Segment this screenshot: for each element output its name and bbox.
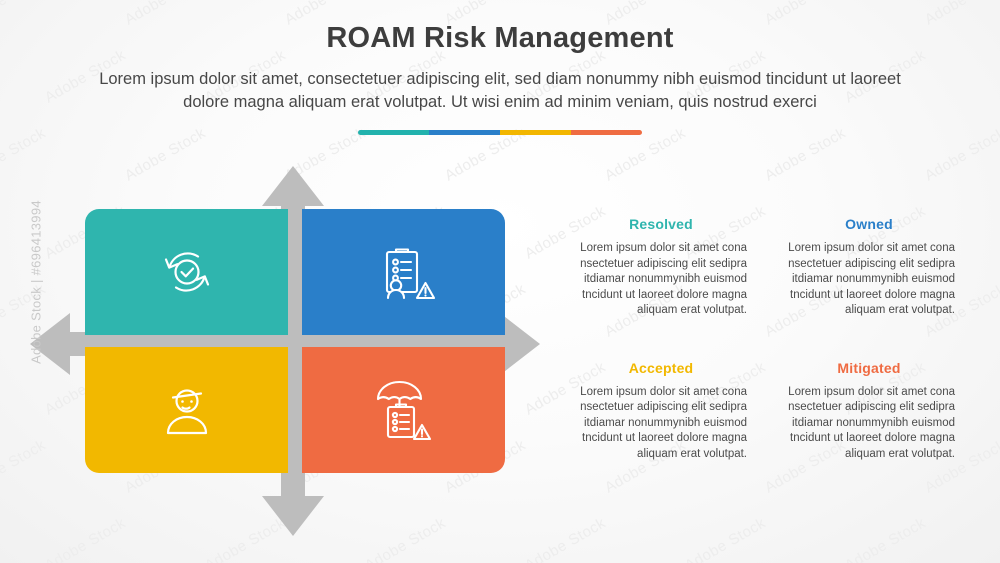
cell-resolved: Resolved Lorem ipsum dolor sit amet cona… — [575, 216, 747, 319]
clipboard-person-icon — [371, 240, 437, 304]
watermark-left-strip: Adobe Stock | #696413994 — [0, 0, 72, 563]
accent-segment-2 — [429, 130, 500, 135]
cell-mitigated: Mitigated Lorem ipsum dolor sit amet con… — [783, 360, 955, 463]
quadrant-top-left[interactable] — [85, 209, 288, 335]
watermark-tile: Adobe Stock — [202, 514, 289, 563]
infographic-canvas: Adobe StockAdobe StockAdobe StockAdobe S… — [0, 0, 1000, 563]
accent-segment-1 — [358, 130, 429, 135]
watermark-tile: Adobe Stock — [0, 436, 49, 496]
watermark-tile: Adobe Stock — [0, 124, 49, 184]
watermark-credit-text: Adobe Stock | #696413994 — [29, 200, 44, 364]
quadrant-top-right[interactable] — [302, 209, 505, 335]
accent-segment-3 — [500, 130, 571, 135]
cell-body-mitigated: Lorem ipsum dolor sit amet cona nsectetu… — [783, 385, 955, 463]
watermark-tile: Adobe Stock — [362, 514, 449, 563]
row-spacer — [575, 319, 965, 360]
watermark-tile: Adobe Stock — [682, 514, 769, 563]
description-panel: Resolved Lorem ipsum dolor sit amet cona… — [575, 216, 965, 462]
description-row-bottom: Accepted Lorem ipsum dolor sit amet cona… — [575, 360, 965, 463]
watermark-tile: Adobe Stock — [0, 280, 49, 340]
watermark-tile: Adobe Stock — [282, 124, 369, 184]
watermark-tile: Adobe Stock — [42, 514, 129, 563]
quadrant-matrix — [85, 209, 505, 473]
accent-bar — [358, 130, 642, 135]
cell-title-owned: Owned — [783, 216, 955, 232]
quadrant-bottom-right[interactable] — [302, 347, 505, 473]
watermark-tile: Adobe Stock — [122, 124, 209, 184]
umbrella-clipboard-icon — [370, 377, 438, 443]
quadrant-bottom-left[interactable] — [85, 347, 288, 473]
watermark-tile: Adobe Stock — [522, 514, 609, 563]
watermark-tile: Adobe Stock — [842, 514, 929, 563]
page-title: ROAM Risk Management — [0, 22, 1000, 55]
cell-body-accepted: Lorem ipsum dolor sit amet cona nsectetu… — [575, 385, 747, 463]
page-subtitle: Lorem ipsum dolor sit amet, consectetuer… — [76, 68, 924, 114]
refresh-check-icon — [155, 240, 219, 304]
cell-accepted: Accepted Lorem ipsum dolor sit amet cona… — [575, 360, 747, 463]
cell-title-resolved: Resolved — [575, 216, 747, 232]
cell-body-resolved: Lorem ipsum dolor sit amet cona nsectetu… — [575, 241, 747, 319]
cell-owned: Owned Lorem ipsum dolor sit amet cona ns… — [783, 216, 955, 319]
accent-segment-4 — [571, 130, 642, 135]
cell-title-accepted: Accepted — [575, 360, 747, 376]
person-accept-icon — [155, 378, 219, 442]
cell-body-owned: Lorem ipsum dolor sit amet cona nsectetu… — [783, 241, 955, 319]
watermark-tile: Adobe Stock — [762, 124, 849, 184]
cell-title-mitigated: Mitigated — [783, 360, 955, 376]
watermark-tile: Adobe Stock — [922, 124, 1000, 184]
description-row-top: Resolved Lorem ipsum dolor sit amet cona… — [575, 216, 965, 319]
